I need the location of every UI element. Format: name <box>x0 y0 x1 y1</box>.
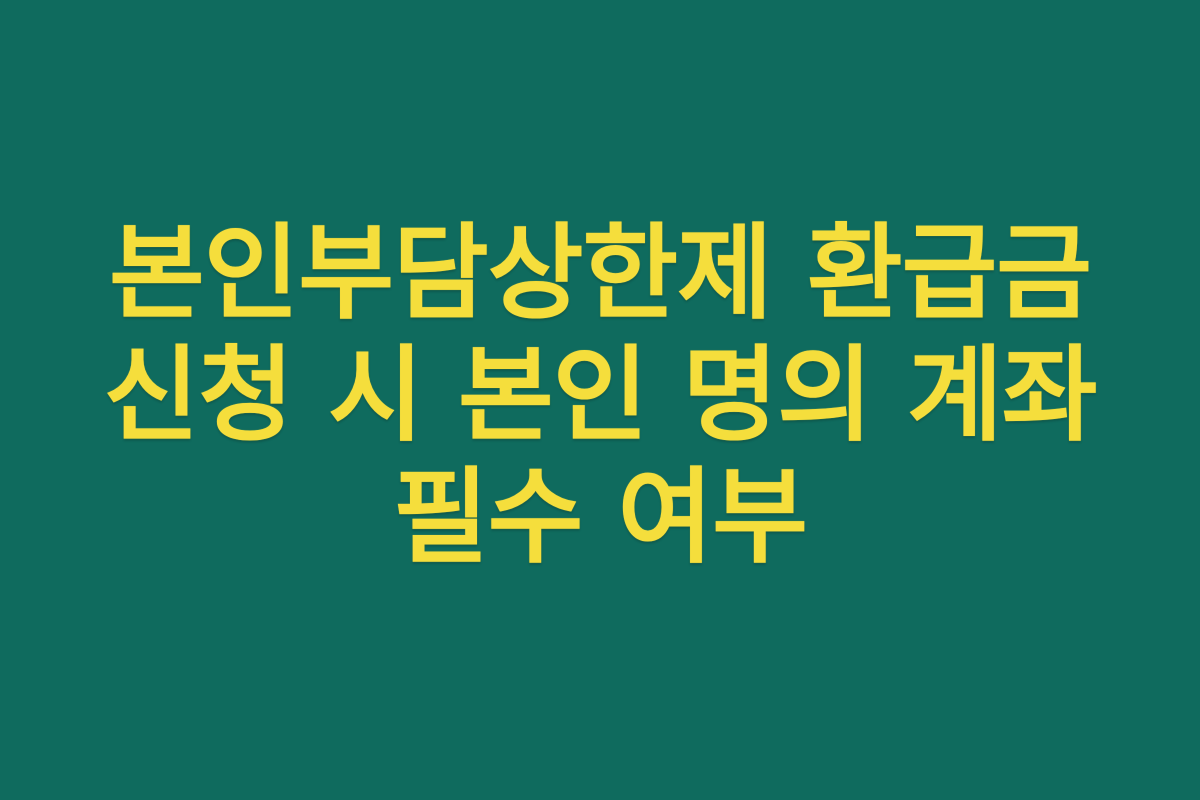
poster-canvas: 본인부담상한제 환급금 신청 시 본인 명의 계좌 필수 여부 <box>0 0 1200 800</box>
headline-text-block: 본인부담상한제 환급금 신청 시 본인 명의 계좌 필수 여부 <box>50 212 1150 578</box>
headline-line-1: 본인부담상한제 환급금 <box>50 212 1150 334</box>
headline-line-2: 신청 시 본인 명의 계좌 <box>50 334 1150 456</box>
headline-line-3: 필수 여부 <box>50 456 1150 578</box>
